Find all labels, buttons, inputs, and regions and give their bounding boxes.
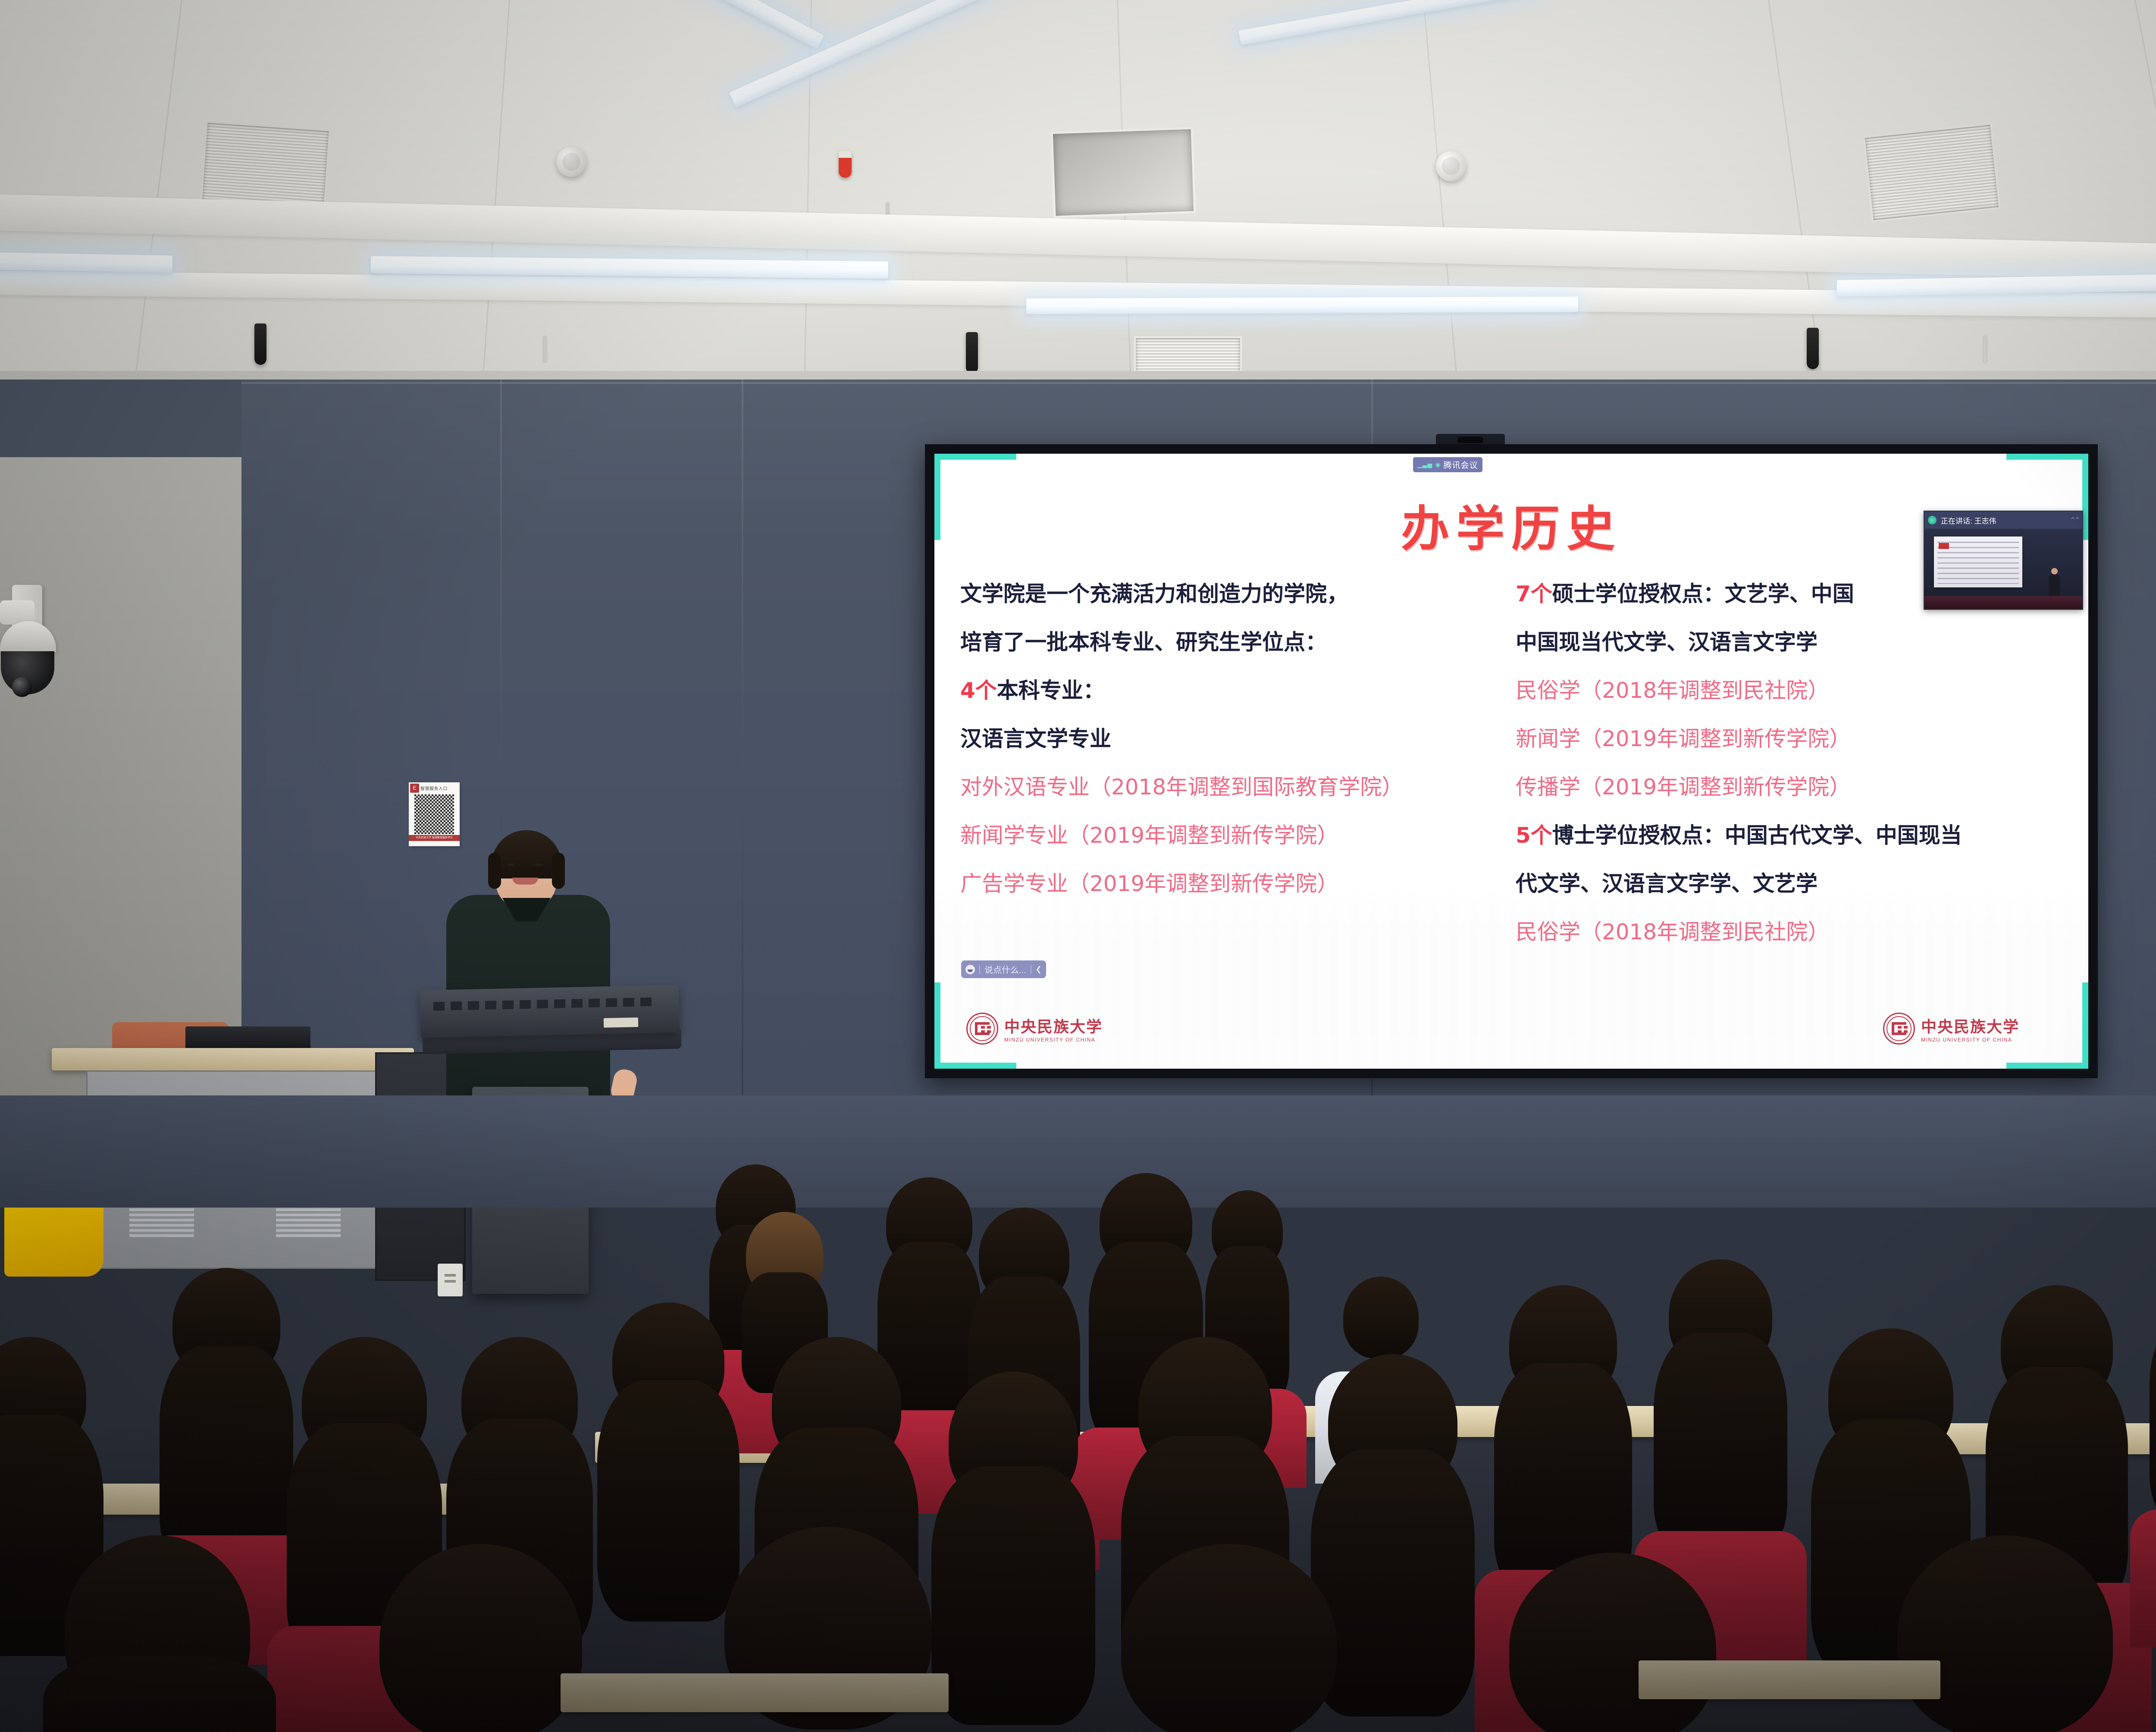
slide-line: 民俗学（2018年调整到民社院）	[1516, 921, 2068, 943]
tencent-meeting-badge[interactable]: ▁▃▅ ◉ 腾讯会议	[1413, 457, 1482, 472]
slide-accent-corner	[934, 454, 1016, 460]
slide-accent-corner	[2006, 454, 2088, 460]
ceiling-seam	[479, 0, 510, 380]
presenter-eye	[535, 863, 542, 866]
ceiling-seam	[130, 0, 182, 380]
student-head-foreground	[379, 1544, 582, 1732]
slide-line: 新闻学专业（2019年调整到新传学院）	[960, 825, 1491, 846]
student-hair	[597, 1380, 740, 1622]
university-logo-icon: E	[410, 784, 419, 793]
logo-english-name: MINZU UNIVERSITY OF CHINA	[1921, 1037, 2019, 1043]
tencent-meeting-label: 腾讯会议	[1444, 459, 1478, 471]
smoke-detector-icon	[1436, 151, 1466, 181]
audience-seating	[0, 1095, 2156, 1732]
slide-body: 文学院是一个充满活力和创造力的学院， 培育了一批本科专业、研究生学位点： 4个本…	[934, 583, 2088, 970]
student-hair	[1654, 1333, 1787, 1557]
student-hair	[1311, 1449, 1475, 1716]
ceiling-air-vent	[1051, 127, 1196, 218]
ceiling-band	[0, 270, 2156, 323]
slide-line: 民俗学（2018年调整到民社院）	[1516, 680, 2068, 701]
ceiling-speaker-icon	[1807, 328, 1819, 369]
fire-sprinkler-icon	[839, 151, 852, 178]
slide-right-column: 7个硕士学位授权点：文艺学、中国 中国现当代文学、汉语言文字学 民俗学（2018…	[1511, 583, 2088, 970]
ceiling-light-tube	[0, 251, 172, 273]
network-globe-icon: ◉	[1435, 461, 1441, 468]
student-desk-row	[561, 1673, 949, 1712]
lectern-asset-label	[604, 1017, 638, 1028]
qr-poster-title: 智慧服务入口	[420, 785, 448, 791]
pip-title-bar: 正在讲话: 王志伟 ⌃⌃	[1924, 511, 2082, 529]
slide-footer-logo-left: 中央民族大学 MINZU UNIVERSITY OF CHINA	[966, 1013, 1103, 1045]
meeting-pip-window[interactable]: 正在讲话: 王志伟 ⌃⌃	[1924, 511, 2083, 610]
slide-left-column: 文学院是一个充满活力和创造力的学院， 培育了一批本科专业、研究生学位点： 4个本…	[934, 583, 1511, 970]
student-hair	[2150, 1311, 2156, 1527]
pip-presenter-figure	[2049, 574, 2060, 596]
pip-projected-slide	[1934, 537, 2022, 587]
ceiling-air-vent	[1134, 336, 1242, 375]
student-hair	[931, 1466, 1095, 1725]
smiley-face-icon[interactable]	[965, 965, 975, 974]
ceiling-speaker-icon	[966, 332, 978, 373]
slide-accent-corner	[2082, 982, 2088, 1069]
slide-line: 培育了一批本科专业、研究生学位点：	[960, 631, 1491, 653]
qr-service-poster[interactable]: E 智慧服务入口 中央民族大学 智慧教室服务平台	[409, 782, 460, 846]
qr-poster-subtitle: 中央民族大学 智慧教室服务平台	[409, 835, 460, 841]
wall-left-panel	[0, 457, 241, 1113]
smoke-detector-icon	[556, 147, 586, 177]
slide-line-number: 4个	[960, 678, 997, 703]
ceiling-seam	[1423, 0, 1461, 380]
ceiling-speaker-icon	[254, 323, 266, 365]
presentation-slide: ▁▃▅ ◉ 腾讯会议 办学历史 文学院是一个充满活力和创造力的学院， 培育了一批…	[934, 454, 2088, 1069]
ceiling-light-tube	[573, 0, 824, 49]
ceiling-light-tube	[1238, 0, 1538, 45]
microphone-icon	[1928, 516, 1937, 524]
slide-line-number: 7个	[1516, 581, 1552, 606]
slide-line: 对外汉语专业（2018年调整到国际教育学院）	[960, 776, 1491, 798]
slide-line: 新闻学（2019年调整到新传学院）	[1516, 728, 2068, 750]
slide-line: 中国现当代文学、汉语言文字学	[1516, 631, 2068, 653]
projection-screen[interactable]: ▁▃▅ ◉ 腾讯会议 办学历史 文学院是一个充满活力和创造力的学院， 培育了一批…	[925, 444, 2098, 1078]
ceiling-light-tube	[1026, 297, 1578, 314]
pip-slide-logo-icon	[1938, 543, 1949, 549]
divider	[1031, 965, 1031, 974]
ceiling-seam	[1768, 0, 1828, 380]
ceiling-drop-rod	[1984, 336, 1987, 362]
audience-backwall	[0, 1095, 2156, 1208]
meeting-chat-input[interactable]: 说点什么... ❮	[961, 960, 1046, 978]
pip-video-feed	[1924, 529, 2082, 610]
qr-code-icon[interactable]	[414, 794, 454, 834]
slide-line-number: 5个	[1516, 823, 1552, 848]
student-head-foreground	[1897, 1535, 2113, 1732]
slide-line: 汉语言文学专业	[960, 728, 1491, 750]
logo-text-block: 中央民族大学 MINZU UNIVERSITY OF CHINA	[1004, 1014, 1103, 1043]
slide-line-text: 硕士学位授权点：文艺学、中国	[1552, 581, 1854, 606]
wall-light-strip	[0, 382, 2156, 384]
lectern-desktop[interactable]	[420, 985, 680, 1038]
slide-footer-logo-right: 中央民族大学 MINZU UNIVERSITY OF CHINA	[1883, 1013, 2019, 1045]
university-seal-icon	[966, 1013, 998, 1045]
wall-left-top	[0, 380, 241, 457]
ceiling-air-vent	[1863, 123, 2000, 222]
pip-speaker-label: 正在讲话: 王志伟	[1941, 515, 1996, 526]
logo-text-block: 中央民族大学 MINZU UNIVERSITY OF CHINA	[1921, 1014, 2019, 1043]
logo-chinese-name: 中央民族大学	[1004, 1014, 1103, 1037]
student-torso	[2130, 1509, 2156, 1647]
university-seal-icon	[1883, 1013, 1915, 1045]
slide-line: 传播学（2019年调整到新传学院）	[1516, 776, 2068, 798]
chat-placeholder: 说点什么...	[984, 963, 1026, 976]
ceiling-drop-rod	[543, 336, 546, 362]
presenter-mouth	[512, 878, 538, 885]
slide-line: 4个本科专业：	[960, 680, 1491, 701]
pip-audience-row	[1924, 596, 2082, 610]
camera-lens-icon	[12, 677, 32, 697]
slide-accent-corner	[934, 1063, 1016, 1069]
student-hair-foreground	[43, 1656, 276, 1732]
teacher-desk-top	[52, 1048, 414, 1070]
chevron-collapse-icon[interactable]: ⌃⌃	[2070, 516, 2079, 524]
ceiling	[0, 0, 2156, 380]
logo-english-name: MINZU UNIVERSITY OF CHINA	[1004, 1037, 1103, 1043]
lecture-hall-photo: E 智慧服务入口 中央民族大学 智慧教室服务平台 14:46 今 将 文 天 于…	[0, 0, 2156, 1732]
slide-title: 办学历史	[934, 490, 2088, 560]
slide-line: 5个博士学位授权点：中国古代文学、中国现当	[1516, 825, 2068, 846]
signal-bars-icon: ▁▃▅	[1417, 461, 1432, 468]
student-head-foreground	[1121, 1544, 1337, 1732]
slide-accent-corner	[2006, 1063, 2088, 1069]
wall-panel-seam	[742, 380, 743, 1113]
student-desk-row	[1639, 1660, 1940, 1699]
slide-line-text: 本科专业：	[997, 678, 1105, 703]
slide-line-text: 博士学位授权点：中国古代文学、中国现当	[1552, 823, 1962, 848]
presenter-eye	[508, 863, 515, 866]
ceiling-seam	[2134, 0, 2156, 380]
logo-chinese-name: 中央民族大学	[1921, 1014, 2019, 1037]
divider	[979, 965, 980, 974]
qr-poster-header: E 智慧服务入口	[409, 782, 460, 794]
chevron-left-icon[interactable]: ❮	[1036, 965, 1042, 974]
slide-line: 文学院是一个充满活力和创造力的学院，	[960, 583, 1491, 605]
slide-line: 广告学专业（2019年调整到新传学院）	[960, 873, 1491, 894]
slide-line: 代文学、汉语言文字学、文艺学	[1516, 873, 2068, 894]
slide-accent-corner	[934, 982, 940, 1069]
student-head	[1343, 1277, 1419, 1359]
